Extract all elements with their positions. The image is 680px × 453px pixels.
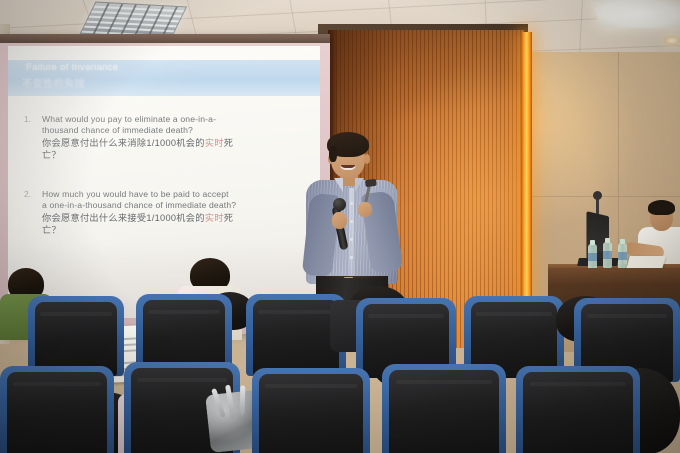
auditorium-seat[interactable] (382, 364, 506, 453)
microphone-head-icon (333, 198, 346, 211)
wall-light-glow (524, 52, 644, 232)
question-2-chinese-highlight: 实时 (205, 213, 224, 223)
slide-title: Failure of Invariance (26, 62, 306, 73)
bag-strap (239, 385, 245, 415)
downlight-icon (664, 36, 680, 45)
question-2-chinese-line-1: 你会愿意付出什么来接受1/1000机会的实时死 (42, 212, 314, 224)
presenter-left-hand (332, 212, 347, 229)
room-background: Failure of Invariance 不变性的失效 1. What wou… (0, 0, 680, 453)
question-2-english-line-2: a one-in-a-thousand chance of immediate … (42, 200, 314, 211)
operator-hair (648, 200, 675, 215)
presenter-hair (327, 132, 369, 157)
seat-back (253, 300, 339, 376)
seat-back (259, 374, 363, 453)
slide-question-2: 2. How much you would have to be paid to… (24, 189, 314, 236)
question-2-chinese-tail: 死 (224, 213, 234, 223)
question-1-chinese-text: 你会愿意付出什么来消除1/1000机会的 (42, 138, 205, 148)
question-1-english-line-1: What would you pay to eliminate a one-in… (42, 114, 314, 125)
question-1-chinese-line-2: 亡？ (42, 149, 314, 161)
seat-back (7, 372, 107, 453)
lecture-hall-photo: Failure of Invariance 不变性的失效 1. What wou… (0, 0, 680, 453)
question-2-english-line-1: How much you would have to be paid to ac… (42, 189, 314, 200)
auditorium-seat[interactable] (0, 366, 114, 453)
presenter-smile (340, 165, 356, 170)
projection-screen-roller (0, 34, 330, 43)
presenter-ear (364, 154, 370, 164)
question-1-chinese-line-1: 你会愿意付出什么来消除1/1000机会的实时死 (42, 137, 314, 149)
slide-question-1: 1. What would you pay to eliminate a one… (24, 114, 314, 161)
question-2-number: 2. (24, 189, 38, 199)
presenter-right-hand (358, 202, 372, 217)
auditorium-seat[interactable] (516, 366, 640, 453)
slide-subtitle: 不变性的失效 (22, 75, 302, 90)
question-1-chinese-tail: 死 (224, 138, 234, 148)
water-bottle (603, 242, 612, 268)
shirt-collar-right (355, 178, 364, 192)
question-1-chinese-highlight: 实时 (205, 138, 224, 148)
projection-screen: Failure of Invariance 不变性的失效 1. What wou… (8, 46, 320, 318)
auditorium-seat[interactable] (252, 368, 370, 453)
shirt-collar-left (334, 178, 343, 192)
water-bottle (618, 243, 627, 269)
ceiling-panel-light-icon (592, 0, 680, 28)
seat-back (523, 372, 633, 453)
question-1-number: 1. (24, 114, 38, 124)
question-2-chinese-line-2: 亡？ (42, 224, 314, 236)
seat-back (35, 302, 117, 376)
question-1-english-line-2: thousand chance of immediate death? (42, 125, 314, 136)
water-bottle (588, 244, 597, 270)
auditorium-seat[interactable] (28, 296, 124, 376)
keyboard (577, 258, 619, 266)
question-2-chinese-text: 你会愿意付出什么来接受1/1000机会的 (42, 213, 205, 223)
seat-back (389, 370, 499, 453)
